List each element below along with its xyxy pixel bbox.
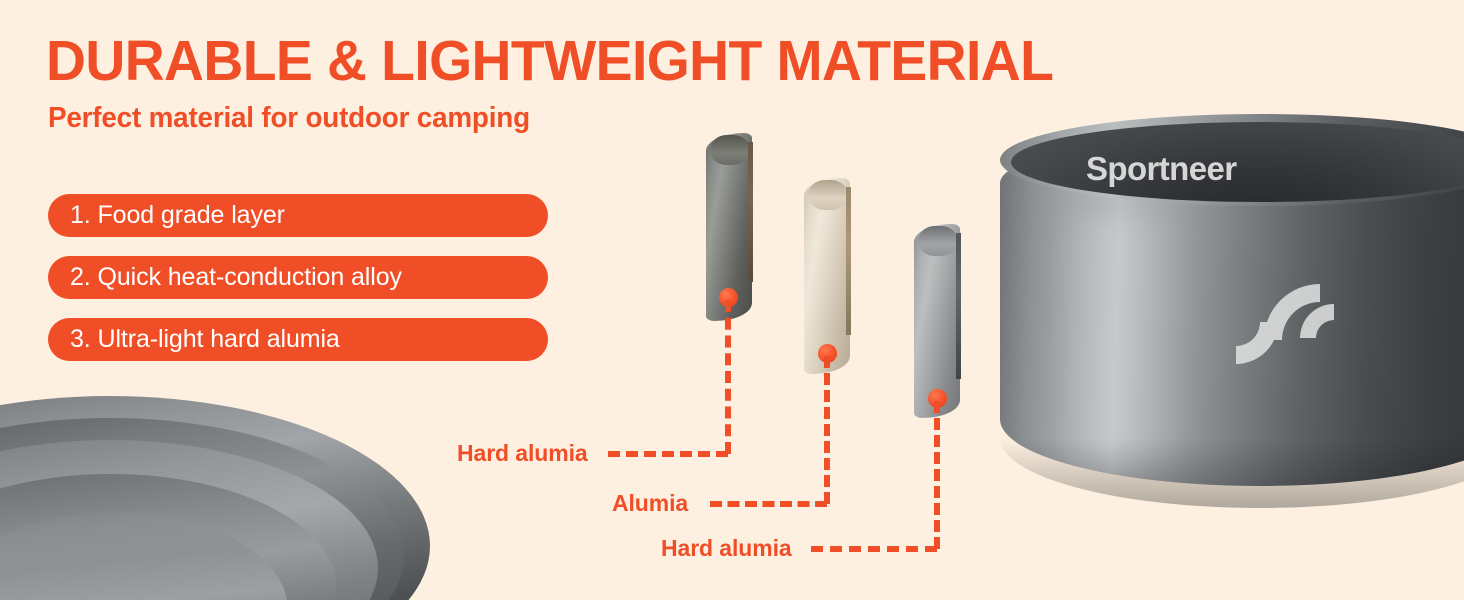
product-infographic-banner: DURABLE & LIGHTWEIGHT MATERIAL Perfect m… (0, 0, 1464, 600)
callout-label-3: Hard alumia (661, 535, 792, 562)
material-strip-hard-alumia-inner (914, 224, 992, 418)
callout-line-2-horizontal (710, 501, 827, 507)
strip-inner-lip (808, 180, 848, 210)
material-strip-hard-alumia-outer (706, 133, 784, 321)
layer-pill-2: 2. Quick heat-conduction alloy (48, 256, 548, 299)
product-lid-image (0, 396, 430, 600)
layer-pill-3: 3. Ultra-light hard alumia (48, 318, 548, 361)
page-subtitle: Perfect material for outdoor camping (48, 100, 530, 136)
callout-line-2-vertical (824, 356, 830, 504)
strip-inner-lip (918, 226, 958, 256)
callout-line-3-horizontal (811, 546, 937, 552)
page-title: DURABLE & LIGHTWEIGHT MATERIAL (46, 30, 1053, 92)
callout-label-2: Alumia (612, 490, 688, 517)
layer-pill-1: 1. Food grade layer (48, 194, 548, 237)
strip-edge (748, 142, 753, 282)
callout-label-1: Hard alumia (457, 440, 588, 467)
layer-pill-3-label: 3. Ultra-light hard alumia (70, 325, 340, 354)
strip-edge (956, 233, 961, 379)
callout-line-3-vertical (934, 401, 940, 549)
layer-pill-2-label: 2. Quick heat-conduction alloy (70, 263, 402, 292)
callout-line-1-vertical (725, 300, 731, 454)
brand-wordmark: Sportneer (1086, 150, 1236, 188)
sportneer-swoosh-icon (1228, 280, 1464, 376)
strip-edge (846, 187, 851, 335)
layer-pill-1-label: 1. Food grade layer (70, 201, 285, 230)
material-strip-alumia (804, 178, 882, 374)
product-pot-image: Sportneer (1000, 108, 1464, 508)
strip-inner-lip (710, 135, 750, 165)
callout-line-1-horizontal (608, 451, 728, 457)
